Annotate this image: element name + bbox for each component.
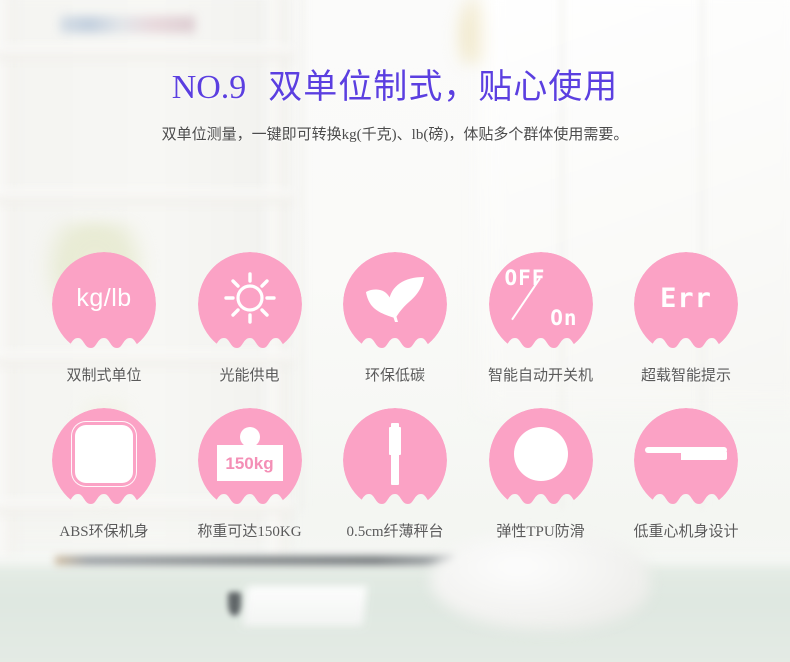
shelf-board-2 bbox=[0, 190, 294, 203]
leaves-icon bbox=[362, 272, 428, 324]
badge-auto-switch: OFF On bbox=[489, 252, 593, 356]
badge-thin bbox=[343, 408, 447, 512]
feature-cell-capacity[interactable]: 150kg 称重可达150KG bbox=[191, 408, 309, 542]
product-feature-banner: NO.9双单位制式，贴心使用 双单位测量，一键即可转换kg(千克)、lb(磅)，… bbox=[0, 0, 790, 662]
on-text: On bbox=[550, 308, 577, 329]
feature-caption: 智能自动开关机 bbox=[488, 366, 593, 386]
sun-icon bbox=[221, 269, 279, 327]
title-number: NO.9 bbox=[172, 69, 247, 106]
badge-content: 150kg bbox=[198, 408, 302, 512]
feature-caption: 称重可达150KG bbox=[197, 522, 301, 542]
low-profile-slab-icon bbox=[645, 444, 727, 464]
badge-content bbox=[52, 408, 156, 512]
badge-dual-unit: kg/lb bbox=[52, 252, 156, 356]
pole-object bbox=[55, 556, 455, 565]
off-on-switch-icon: OFF On bbox=[505, 270, 577, 326]
badge-content bbox=[634, 408, 738, 512]
badge-overload: Err bbox=[634, 252, 738, 356]
badge-content bbox=[198, 252, 302, 356]
badge-content: OFF On bbox=[489, 252, 593, 356]
thin-bar-head bbox=[389, 427, 401, 455]
feature-caption: 弹性TPU防滑 bbox=[496, 522, 584, 542]
weight-label-box: 150kg bbox=[217, 445, 283, 481]
badge-tpu bbox=[489, 408, 593, 512]
books-on-shelf bbox=[60, 16, 195, 33]
weight-value: 150kg bbox=[225, 455, 273, 472]
header: NO.9双单位制式，贴心使用 双单位测量，一键即可转换kg(千克)、lb(磅)，… bbox=[0, 66, 790, 146]
feature-row-1: kg/lb 双制式单位 bbox=[45, 252, 745, 386]
feature-cell-eco[interactable]: 环保低碳 bbox=[336, 252, 454, 386]
badge-content bbox=[343, 252, 447, 356]
feature-cell-dual-unit[interactable]: kg/lb 双制式单位 bbox=[45, 252, 163, 386]
paper-object bbox=[243, 586, 367, 626]
thin-profile-icon bbox=[389, 423, 401, 485]
feature-cell-overload[interactable]: Err 超载智能提示 bbox=[627, 252, 745, 386]
feature-grid: kg/lb 双制式单位 bbox=[45, 252, 745, 542]
feature-caption: 低重心机身设计 bbox=[633, 522, 738, 542]
feature-caption: 双制式单位 bbox=[66, 366, 141, 386]
feature-row-2: ABS环保机身 150kg 称重可达150KG bbox=[45, 408, 745, 542]
feature-cell-auto-switch[interactable]: OFF On 智能自动开关机 bbox=[482, 252, 600, 386]
badge-content bbox=[343, 408, 447, 512]
feature-caption: 光能供电 bbox=[219, 366, 279, 386]
badge-eco bbox=[343, 252, 447, 356]
badge-capacity: 150kg bbox=[198, 408, 302, 512]
feature-cell-thin[interactable]: 0.5cm纤薄秤台 bbox=[336, 408, 454, 542]
feature-caption: 环保低碳 bbox=[365, 366, 425, 386]
err-display-icon: Err bbox=[660, 285, 712, 312]
table-surface bbox=[0, 566, 790, 662]
slab-base bbox=[681, 451, 727, 460]
badge-content bbox=[489, 408, 593, 512]
shelf-board-1 bbox=[0, 46, 294, 59]
page-title: NO.9双单位制式，贴心使用 bbox=[0, 66, 790, 110]
badge-content: Err bbox=[634, 252, 738, 356]
page-subtitle: 双单位测量，一键即可转换kg(千克)、lb(磅)，体贴多个群体使用需要。 bbox=[0, 124, 790, 146]
title-text: 双单位制式，贴心使用 bbox=[268, 69, 618, 106]
feature-cell-low-center[interactable]: 低重心机身设计 bbox=[627, 408, 745, 542]
feature-caption: 0.5cm纤薄秤台 bbox=[346, 522, 443, 542]
clip-object bbox=[228, 592, 241, 616]
feature-caption: 超载智能提示 bbox=[641, 366, 731, 386]
anti-slip-pad-icon bbox=[514, 427, 568, 481]
kg-lb-text-icon: kg/lb bbox=[76, 286, 131, 311]
badge-low-center bbox=[634, 408, 738, 512]
feature-caption: ABS环保机身 bbox=[59, 522, 148, 542]
feature-cell-solar[interactable]: 光能供电 bbox=[191, 252, 309, 386]
feature-cell-tpu[interactable]: 弹性TPU防滑 bbox=[482, 408, 600, 542]
feature-cell-abs-body[interactable]: ABS环保机身 bbox=[45, 408, 163, 542]
pillow-object bbox=[430, 532, 650, 630]
badge-content: kg/lb bbox=[52, 252, 156, 356]
badge-solar bbox=[198, 252, 302, 356]
weight-block-icon: 150kg bbox=[217, 427, 283, 481]
scale-body-icon bbox=[75, 425, 133, 483]
badge-abs-body bbox=[52, 408, 156, 512]
